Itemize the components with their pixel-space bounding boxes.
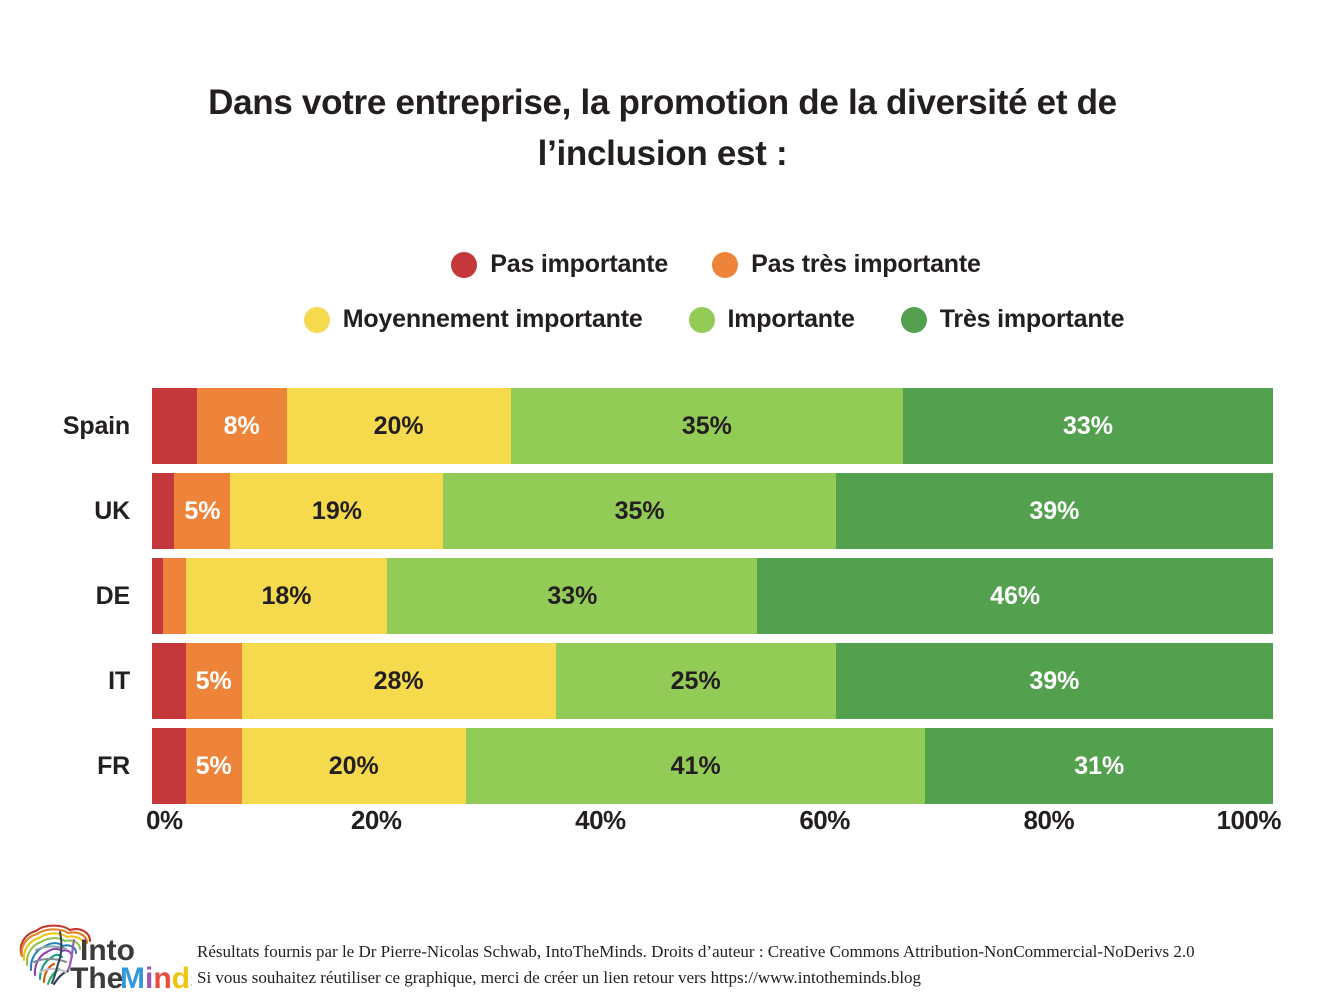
bar-segment-value-label: 5% bbox=[196, 752, 232, 781]
x-axis-tick-label: 40% bbox=[575, 805, 626, 836]
bar-segment-value-label: 5% bbox=[184, 497, 220, 526]
legend-item-pas-importante[interactable]: Pas importante bbox=[451, 250, 668, 279]
bar-segment-value-label: 35% bbox=[682, 412, 732, 441]
bar-segment[interactable] bbox=[163, 558, 185, 634]
legend-item-label: Pas très importante bbox=[751, 250, 981, 279]
bar-segment[interactable]: 39% bbox=[836, 643, 1273, 719]
bar-row: UK5%19%35%39% bbox=[0, 473, 1323, 549]
bar-segment-value-label: 33% bbox=[1063, 412, 1113, 441]
bar-segment[interactable]: 19% bbox=[230, 473, 443, 549]
footer-line-2: Si vous souhaitez réutiliser ce graphiqu… bbox=[197, 965, 1195, 991]
legend-item-pas-tres-importante[interactable]: Pas très importante bbox=[712, 250, 981, 279]
bar-row: IT5%28%25%39% bbox=[0, 643, 1323, 719]
bar-segment[interactable] bbox=[152, 388, 197, 464]
bar-segment[interactable]: 18% bbox=[186, 558, 388, 634]
legend-swatch-icon bbox=[451, 252, 477, 278]
page-title: Dans votre entreprise, la promotion de l… bbox=[130, 78, 1195, 180]
bar-segment[interactable]: 35% bbox=[443, 473, 835, 549]
bar-row-label: IT bbox=[0, 643, 130, 719]
bar-segment-value-label: 5% bbox=[196, 667, 232, 696]
bar-row: FR5%20%41%31% bbox=[0, 728, 1323, 804]
bar-segment-value-label: 31% bbox=[1074, 752, 1124, 781]
bar-segment-value-label: 18% bbox=[261, 582, 311, 611]
bar-segment[interactable]: 20% bbox=[242, 728, 466, 804]
bar-row: Spain8%20%35%33% bbox=[0, 388, 1323, 464]
stacked-bar-chart-plot: Spain8%20%35%33%UK5%19%35%39%DE18%33%46%… bbox=[0, 388, 1323, 813]
legend-row-1: Pas importante Pas très importante bbox=[152, 250, 1274, 279]
x-axis-tick-label: 20% bbox=[351, 805, 402, 836]
bar-segment[interactable]: 33% bbox=[387, 558, 757, 634]
bar-track: 5%19%35%39% bbox=[152, 473, 1273, 549]
legend-item-label: Importante bbox=[728, 305, 855, 334]
x-axis-tick-label: 0% bbox=[146, 805, 183, 836]
footer-credit-text: Résultats fournis par le Dr Pierre-Nicol… bbox=[197, 939, 1195, 991]
chart-legend: Pas importante Pas très importante Moyen… bbox=[152, 250, 1274, 334]
legend-swatch-icon bbox=[689, 307, 715, 333]
bar-segment[interactable]: 8% bbox=[197, 388, 287, 464]
legend-item-moyennement-importante[interactable]: Moyennement importante bbox=[304, 305, 643, 334]
x-axis-tick-label: 60% bbox=[799, 805, 850, 836]
bar-segment[interactable]: 31% bbox=[925, 728, 1273, 804]
footer: Into The Minds Résultats fournis par le … bbox=[0, 918, 1323, 1000]
bar-segment-value-label: 28% bbox=[374, 667, 424, 696]
bar-segment[interactable] bbox=[152, 473, 174, 549]
logo-word-minds: Minds bbox=[120, 962, 192, 995]
bar-segment[interactable]: 5% bbox=[174, 473, 230, 549]
bar-segment-value-label: 35% bbox=[615, 497, 665, 526]
bar-segment-value-label: 39% bbox=[1029, 667, 1079, 696]
bar-segment-value-label: 41% bbox=[671, 752, 721, 781]
bar-segment[interactable] bbox=[152, 643, 186, 719]
page-title-line-1: Dans votre entreprise, la promotion de l… bbox=[130, 78, 1195, 129]
bar-segment[interactable]: 33% bbox=[903, 388, 1273, 464]
bar-track: 5%20%41%31% bbox=[152, 728, 1273, 804]
bar-segment[interactable]: 20% bbox=[287, 388, 511, 464]
bar-segment-value-label: 46% bbox=[990, 582, 1040, 611]
bar-row-label: FR bbox=[0, 728, 130, 804]
bar-segment[interactable]: 35% bbox=[511, 388, 903, 464]
bar-track: 5%28%25%39% bbox=[152, 643, 1273, 719]
bar-row: DE18%33%46% bbox=[0, 558, 1323, 634]
legend-swatch-icon bbox=[901, 307, 927, 333]
legend-item-label: Très importante bbox=[940, 305, 1125, 334]
legend-swatch-icon bbox=[712, 252, 738, 278]
x-axis-tick-label: 80% bbox=[1024, 805, 1075, 836]
x-axis-tick-label: 100% bbox=[1217, 805, 1282, 836]
logo-word-the: The bbox=[70, 962, 123, 995]
bar-segment-value-label: 19% bbox=[312, 497, 362, 526]
brain-logo-icon: Into The Minds bbox=[14, 920, 192, 998]
bar-segment[interactable]: 5% bbox=[186, 728, 242, 804]
legend-item-label: Moyennement importante bbox=[343, 305, 643, 334]
bar-segment[interactable]: 41% bbox=[466, 728, 926, 804]
bar-segment-value-label: 39% bbox=[1029, 497, 1079, 526]
legend-swatch-icon bbox=[304, 307, 330, 333]
legend-item-tres-importante[interactable]: Très importante bbox=[901, 305, 1125, 334]
bar-segment-value-label: 20% bbox=[329, 752, 379, 781]
legend-row-2: Moyennement importante Importante Très i… bbox=[152, 305, 1274, 334]
page-title-line-2: l’inclusion est : bbox=[130, 129, 1195, 180]
bar-segment[interactable]: 28% bbox=[242, 643, 556, 719]
legend-item-label: Pas importante bbox=[490, 250, 668, 279]
bar-segment[interactable]: 25% bbox=[556, 643, 836, 719]
bar-segment-value-label: 25% bbox=[671, 667, 721, 696]
bar-track: 8%20%35%33% bbox=[152, 388, 1273, 464]
bar-segment[interactable] bbox=[152, 728, 186, 804]
bar-segment-value-label: 20% bbox=[374, 412, 424, 441]
bar-segment[interactable]: 5% bbox=[186, 643, 242, 719]
intotheminds-logo: Into The Minds bbox=[14, 920, 192, 998]
bar-track: 18%33%46% bbox=[152, 558, 1273, 634]
bar-segment[interactable]: 39% bbox=[836, 473, 1273, 549]
bar-segment[interactable] bbox=[152, 558, 163, 634]
bar-segment-value-label: 8% bbox=[224, 412, 260, 441]
bar-row-label: DE bbox=[0, 558, 130, 634]
legend-item-importante[interactable]: Importante bbox=[689, 305, 855, 334]
x-axis: 0%20%40%60%80%100% bbox=[0, 805, 1323, 845]
bar-segment[interactable]: 46% bbox=[757, 558, 1273, 634]
footer-line-1: Résultats fournis par le Dr Pierre-Nicol… bbox=[197, 939, 1195, 965]
bar-row-label: UK bbox=[0, 473, 130, 549]
bar-row-label: Spain bbox=[0, 388, 130, 464]
bar-segment-value-label: 33% bbox=[547, 582, 597, 611]
